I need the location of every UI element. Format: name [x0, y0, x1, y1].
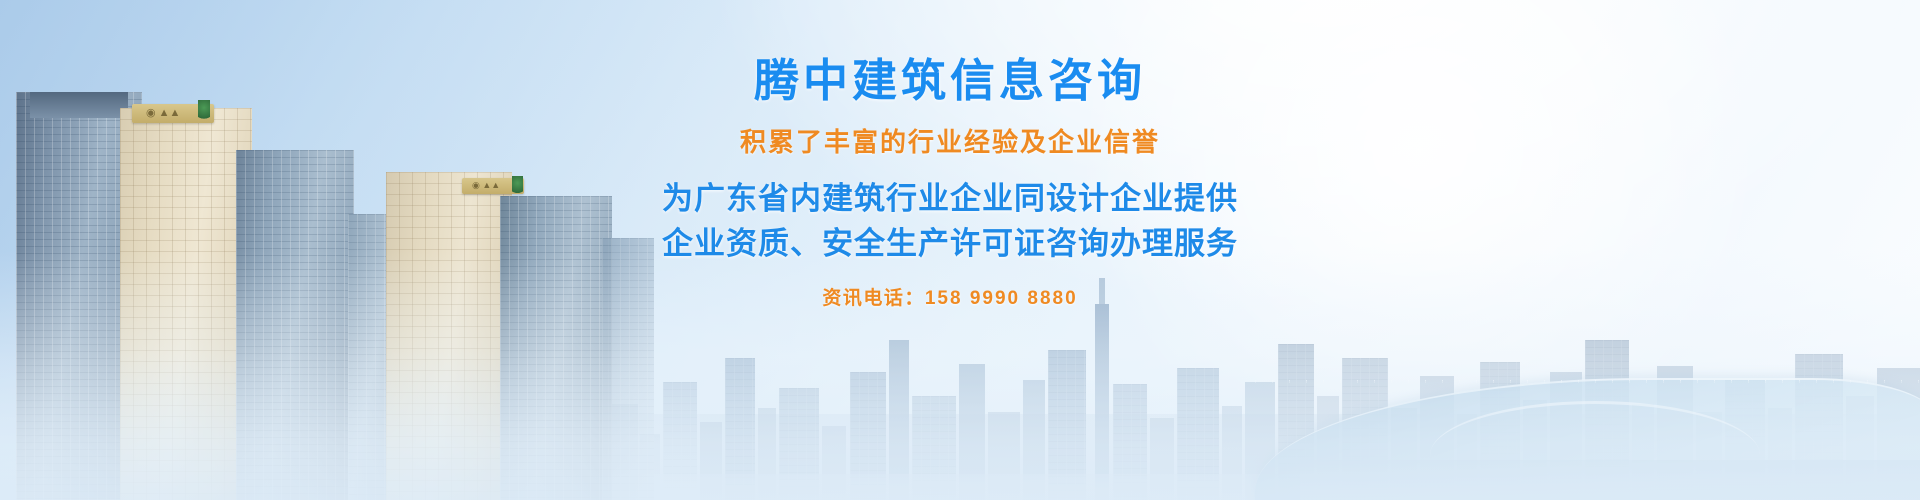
rooftop-sign-logo: ◉ ▲▲ — [146, 108, 180, 119]
banner-description: 为广东省内建筑行业企业同设计企业提供 企业资质、安全生产许可证咨询办理服务 — [640, 177, 1260, 267]
foreground-tower-glass-mid — [236, 150, 354, 500]
canopy-support-wall — [1300, 460, 1920, 500]
foreground-tower-glass-right — [500, 196, 612, 500]
promo-banner: ◉ ▲▲ ◉ ▲▲ 腾中建筑信息咨询 积累了丰富的行业经验及企业信誉 为广东省内… — [0, 0, 1920, 500]
banner-description-line-1: 为广东省内建筑行业企业同设计企业提供 — [640, 177, 1260, 222]
banner-phone-number: 158 9990 8880 — [925, 288, 1078, 309]
rooftop-sign-logo-right: ◉ ▲▲ — [472, 181, 500, 190]
banner-tagline: 积累了丰富的行业经验及企业信誉 — [640, 129, 1260, 155]
foreground-tower-tan-left — [120, 108, 252, 500]
foreground-tower-tan-right — [386, 172, 512, 500]
rooftop-tree-icon-right — [512, 176, 523, 196]
banner-phone: 资讯电话：158 9990 8880 — [640, 289, 1260, 308]
banner-phone-label: 资讯电话： — [822, 288, 925, 309]
banner-title: 腾中建筑信息咨询 — [640, 58, 1260, 103]
banner-text-block: 腾中建筑信息咨询 积累了丰富的行业经验及企业信誉 为广东省内建筑行业企业同设计企… — [640, 58, 1260, 308]
banner-description-line-2: 企业资质、安全生产许可证咨询办理服务 — [640, 222, 1260, 267]
rooftop-tree-icon-left — [198, 100, 210, 122]
tower-left-crown — [30, 92, 128, 118]
